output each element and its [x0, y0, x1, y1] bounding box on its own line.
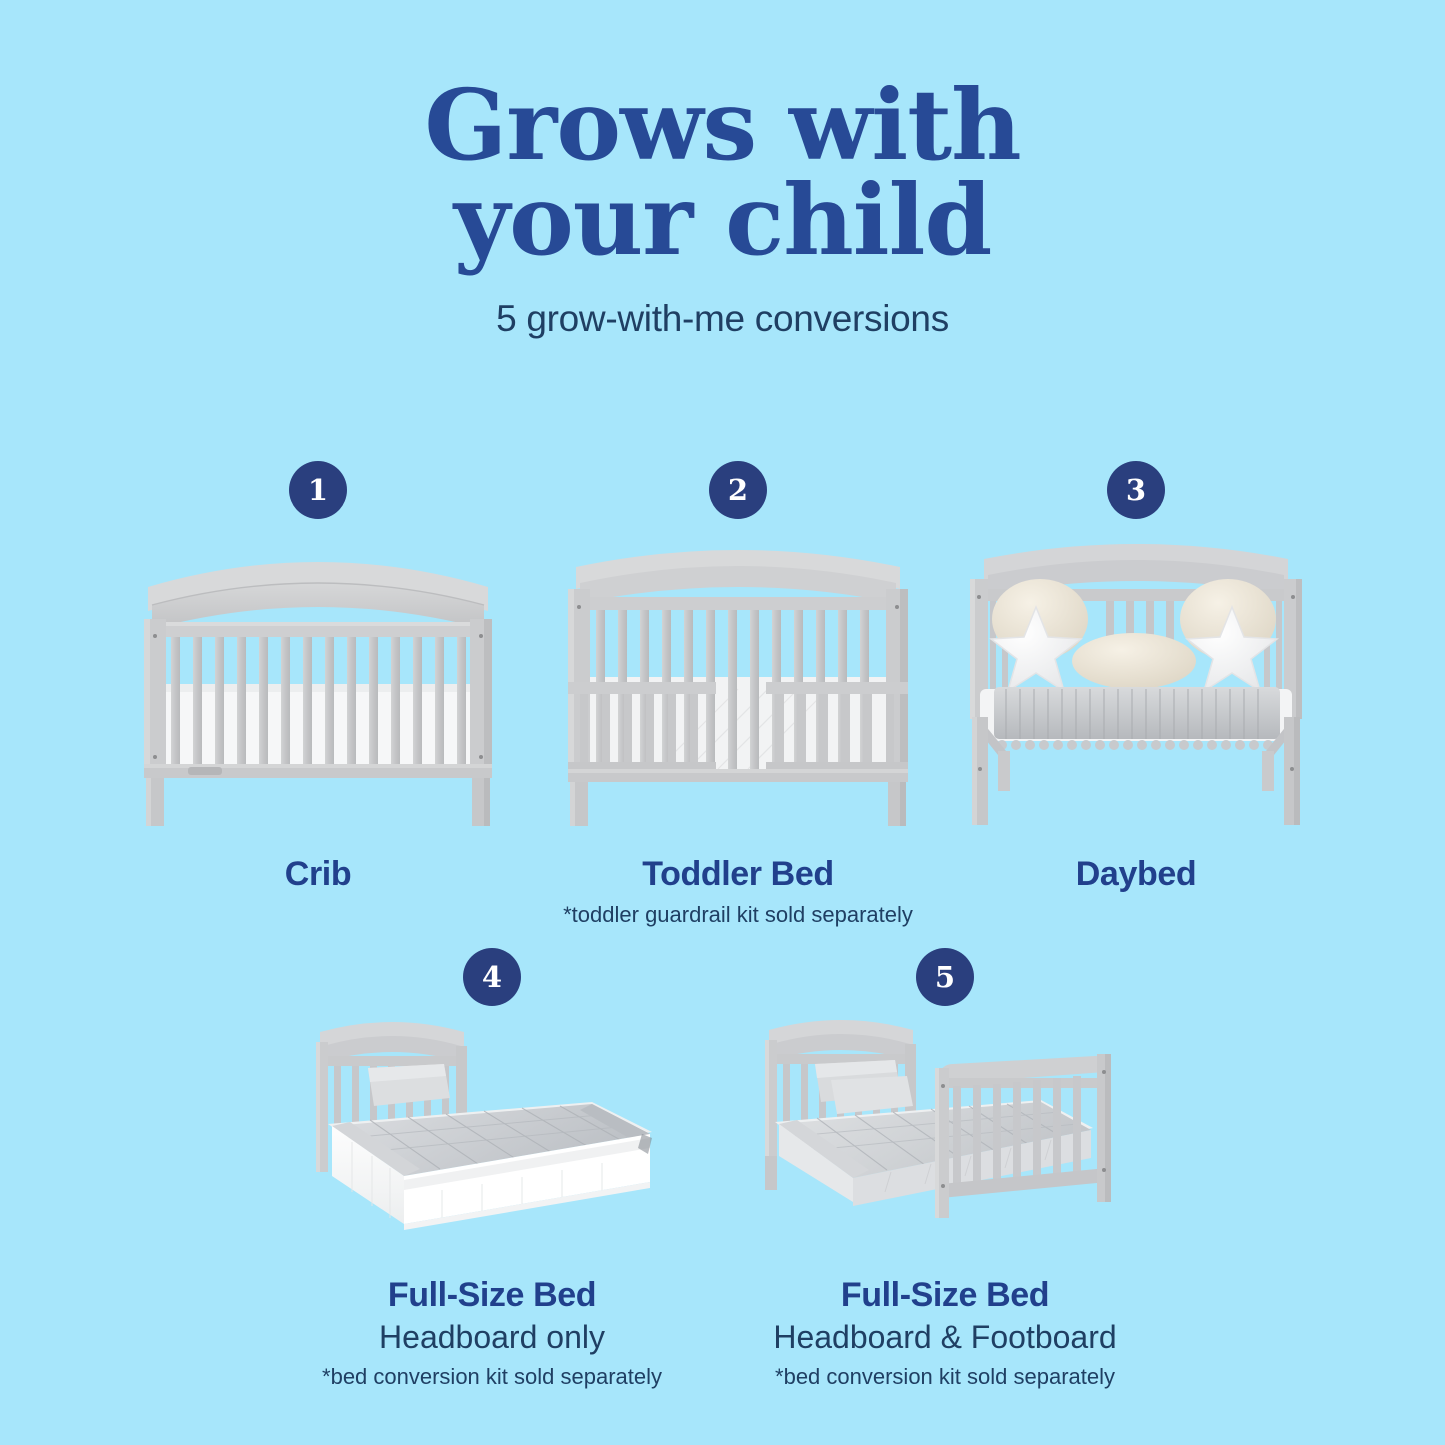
toddler-bed-label-group: Toddler Bed *toddler guardrail kit sold …: [538, 855, 938, 928]
crib-label-group: Crib: [118, 855, 518, 894]
title-line-2: your child: [0, 173, 1445, 268]
full-bed-headboard-label-group: Full-Size Bed Headboard only *bed conver…: [292, 1276, 692, 1390]
conversion-note-2: *toddler guardrail kit sold separately: [538, 902, 938, 928]
conversion-label-5: Full-Size Bed: [745, 1276, 1145, 1315]
daybed-illustration: [936, 519, 1336, 829]
step-badge-5: 5: [916, 948, 974, 1006]
conversion-item-toddler-bed: 2: [538, 461, 938, 928]
conversion-note-5: *bed conversion kit sold separately: [745, 1364, 1145, 1390]
conversion-label-1: Crib: [118, 855, 518, 894]
conversion-item-crib: 1: [118, 461, 518, 894]
page-title: Grows with your child: [0, 78, 1445, 268]
infographic-page: Grows with your child 5 grow-with-me con…: [0, 0, 1445, 1445]
step-badge-4: 4: [463, 948, 521, 1006]
full-bed-headboard-footboard-label-group: Full-Size Bed Headboard & Footboard *bed…: [745, 1276, 1145, 1390]
conversion-item-full-bed-headboard-footboard: 5: [745, 948, 1145, 1390]
step-badge-1: 1: [289, 461, 347, 519]
conversion-item-daybed: 3: [936, 461, 1336, 894]
full-bed-headboard-footboard-illustration: [745, 1006, 1145, 1256]
conversion-label-4: Full-Size Bed: [292, 1276, 692, 1315]
title-line-1: Grows with: [0, 78, 1445, 173]
daybed-label-group: Daybed: [936, 855, 1336, 894]
toddler-bed-illustration: [538, 519, 938, 829]
conversion-sublabel-5: Headboard & Footboard: [745, 1319, 1145, 1356]
conversion-label-3: Daybed: [936, 855, 1336, 894]
step-badge-2: 2: [709, 461, 767, 519]
full-bed-headboard-illustration: [292, 1006, 692, 1256]
conversion-label-2: Toddler Bed: [538, 855, 938, 894]
conversion-sublabel-4: Headboard only: [292, 1319, 692, 1356]
crib-illustration: [118, 519, 518, 829]
header: Grows with your child 5 grow-with-me con…: [0, 78, 1445, 340]
page-subtitle: 5 grow-with-me conversions: [0, 298, 1445, 340]
conversion-item-full-bed-headboard: 4: [292, 948, 692, 1390]
step-badge-3: 3: [1107, 461, 1165, 519]
conversion-note-4: *bed conversion kit sold separately: [292, 1364, 692, 1390]
